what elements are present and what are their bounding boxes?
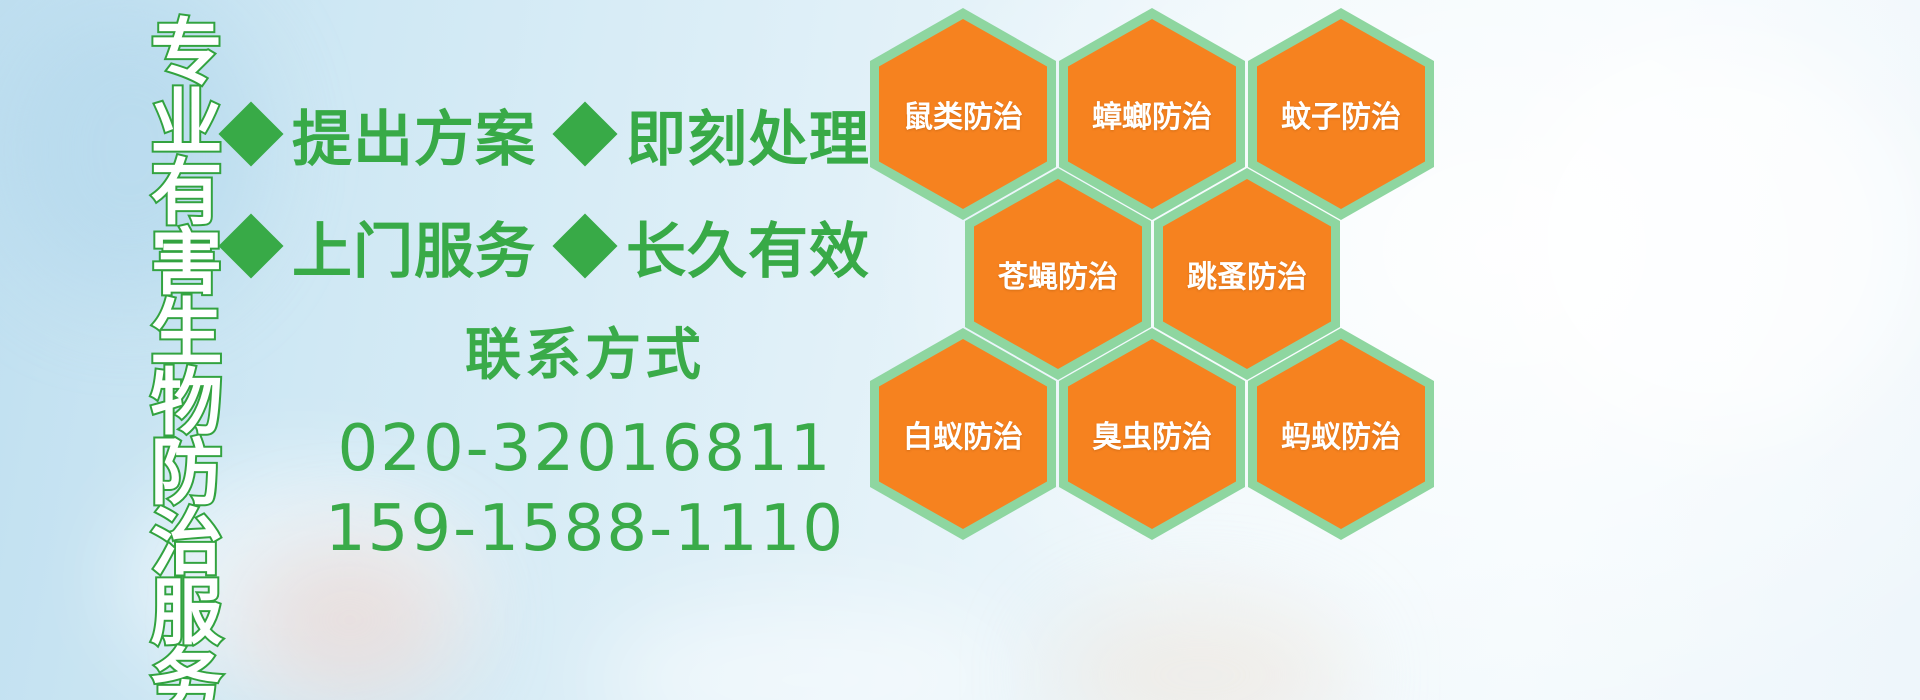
vertical-headline: 专业有害生物防治服务 [110,14,215,574]
feature-list: 提出方案 即刻处理 上门服务 长久有效 [228,78,868,302]
feature-row: 上门服务 长久有效 [228,190,868,302]
contact-block: 联系方式 020-32016811 159-1588-1110 [300,310,870,569]
diamond-icon [552,101,617,166]
hex-label: 蚂蚁防治 [1281,412,1401,456]
pest-control-banner: 专业有害生物防治服务 提出方案 即刻处理 上门服务 长久有效 联系方式 [0,0,1920,700]
hex-label: 鼠类防治 [903,92,1023,136]
diamond-icon [218,101,283,166]
feature-item-door-to-door-service: 上门服务 [228,203,536,290]
hex-label: 蚊子防治 [1281,92,1401,136]
diamond-icon [218,213,283,278]
diamond-icon [552,213,617,278]
background-blob [600,600,1020,700]
feature-label: 提出方案 [292,91,536,178]
service-honeycomb: 鼠类防治 蟑螂防治 蚊子防治 苍蝇防治 跳蚤防治 白蚁防治 臭虫防治 [860,0,1480,560]
hex-label: 白蚁防治 [903,412,1023,456]
feature-item-propose-plan: 提出方案 [228,91,536,178]
contact-phone-mobile[interactable]: 159-1588-1110 [300,489,870,569]
background-blob [1500,40,1920,440]
contact-phone-landline[interactable]: 020-32016811 [300,409,870,489]
feature-item-immediate-handling: 即刻处理 [562,91,870,178]
hex-label: 苍蝇防治 [998,252,1118,296]
background-blob [1050,600,1350,700]
hex-label: 蟑螂防治 [1092,92,1212,136]
hex-label: 跳蚤防治 [1187,252,1307,296]
feature-item-long-lasting-effect: 长久有效 [562,203,870,290]
feature-label: 长久有效 [626,203,870,290]
feature-row: 提出方案 即刻处理 [228,78,868,190]
feature-label: 上门服务 [292,203,536,290]
hex-label: 臭虫防治 [1092,412,1212,456]
feature-label: 即刻处理 [626,91,870,178]
contact-title: 联系方式 [300,310,870,391]
